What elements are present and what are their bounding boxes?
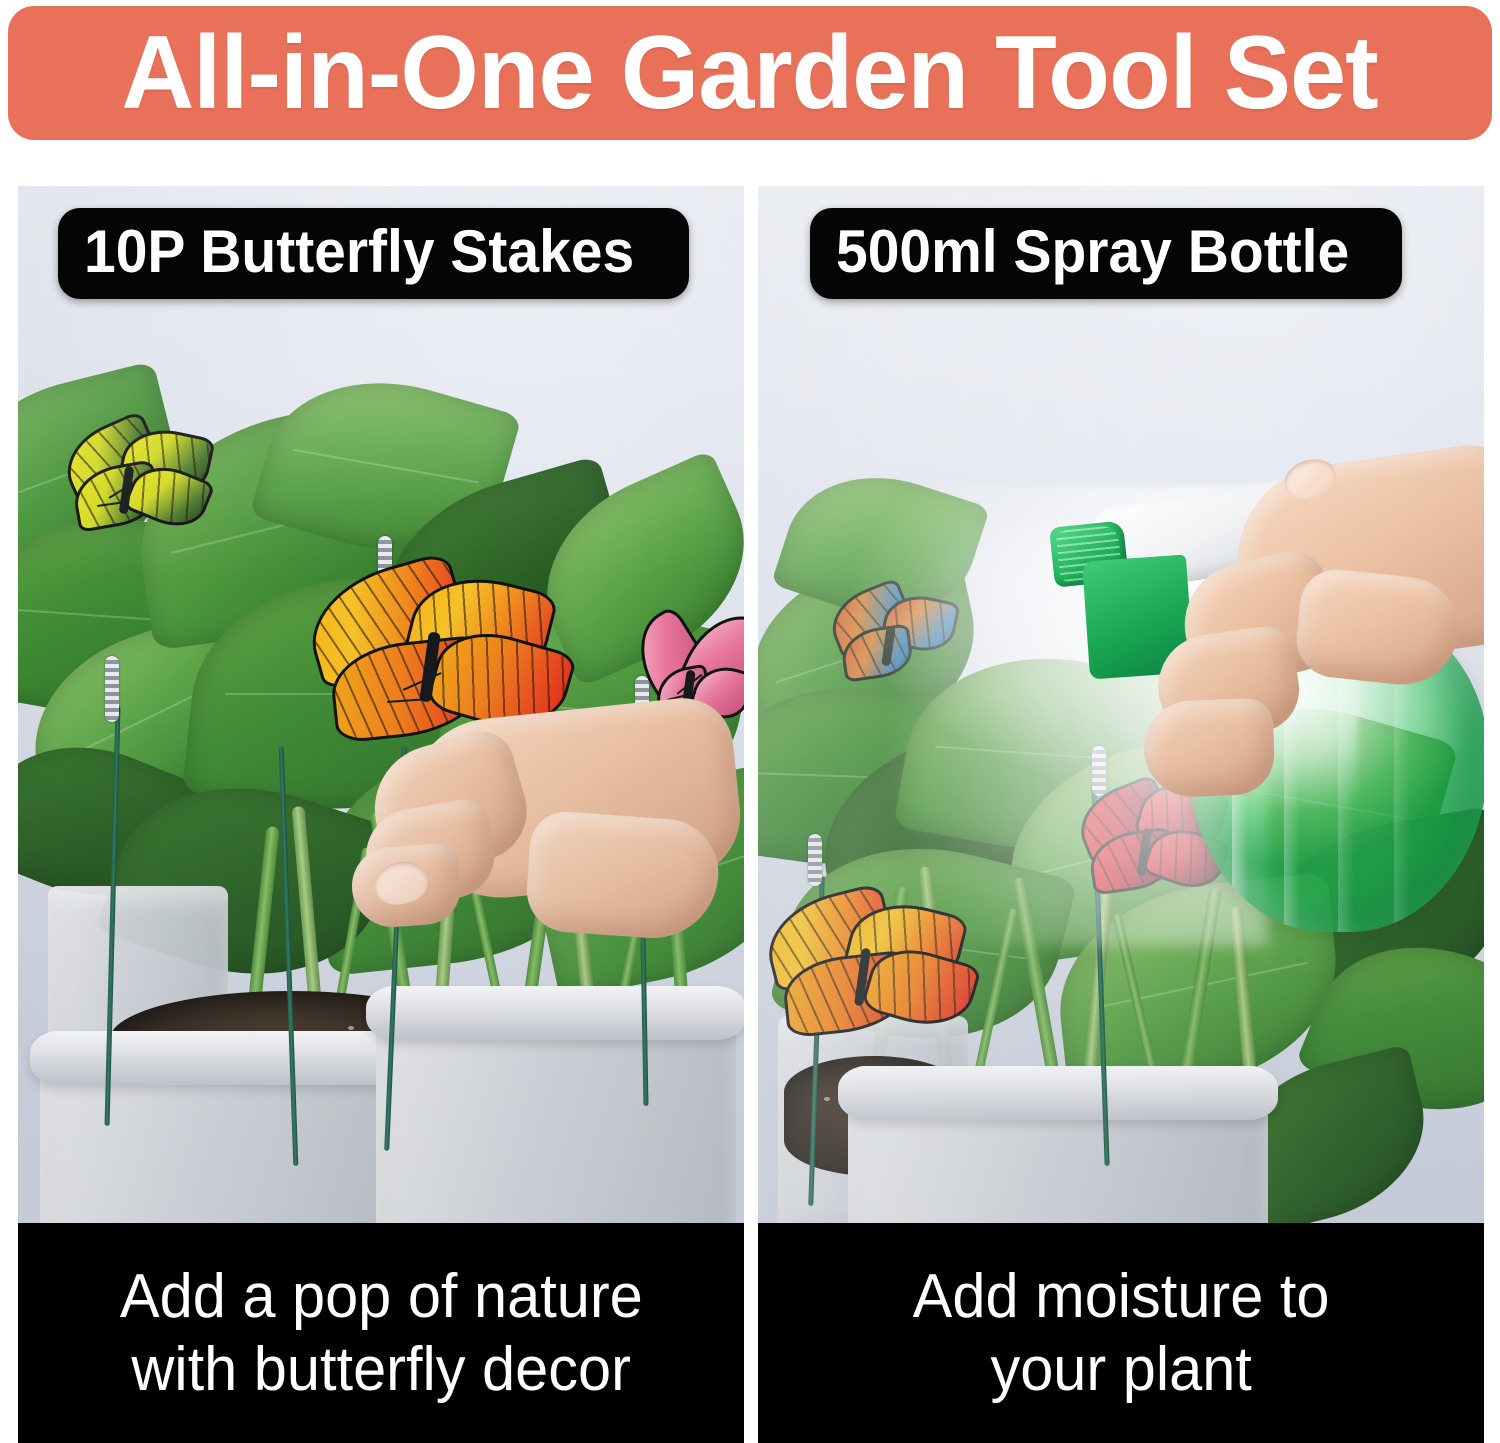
header-banner: All-in-One Garden Tool Set [8,6,1492,140]
scene-butterfly-stakes [18,186,744,1223]
butterfly-yellow-green [60,424,220,544]
pot [848,1066,1268,1223]
badge-label: 10P Butterfly Stakes [84,222,634,282]
badge-label: 500ml Spray Bottle [836,222,1349,282]
stake-coil [105,656,119,722]
photo-butterfly-stakes [18,186,744,1223]
caption-line-1: Add a pop of nature [120,1260,643,1333]
pot [376,986,736,1223]
stake-coil [808,834,822,886]
panel-butterfly-stakes: 10P Butterfly Stakes Add a pop of nature… [18,186,744,1443]
hand [338,656,744,996]
pot [40,1031,420,1223]
scene-spray-bottle [758,186,1484,1223]
photo-spray-bottle [758,186,1484,1223]
page-title: All-in-One Garden Tool Set [122,21,1378,125]
hand [1088,452,1484,872]
badge-butterfly-stakes: 10P Butterfly Stakes [58,208,689,299]
badge-spray-bottle: 500ml Spray Bottle [810,208,1402,299]
caption-line-2: your plant [990,1333,1251,1406]
caption-line-2: with butterfly decor [131,1333,631,1406]
caption-butterfly-stakes: Add a pop of nature with butterfly decor [18,1223,744,1443]
butterfly-orange-red [764,886,974,1046]
caption-spray-bottle: Add moisture to your plant [758,1223,1484,1443]
feature-panels: 10P Butterfly Stakes Add a pop of nature… [0,186,1500,1443]
caption-line-1: Add moisture to [913,1260,1330,1333]
panel-spray-bottle: 500ml Spray Bottle Add moisture to your … [758,186,1484,1443]
butterfly-blue-red [828,586,958,686]
